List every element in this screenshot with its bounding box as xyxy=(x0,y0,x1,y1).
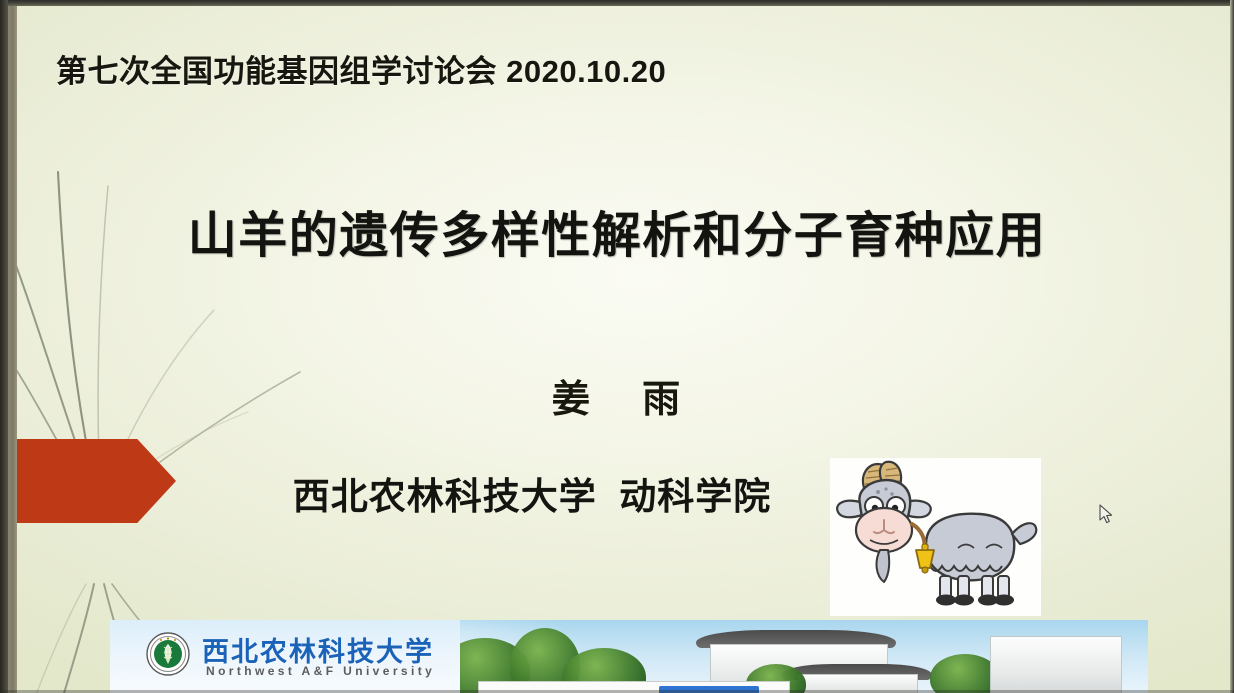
window-left-edge xyxy=(0,0,8,693)
conference-header-text: 第七次全国功能基因组学讨论会 2020.10.20 xyxy=(56,46,666,91)
goat-illustration-panel xyxy=(830,458,1041,616)
page-title: 山羊的遗传多样性解析和分子育种应用 xyxy=(0,196,1234,267)
banner-building-icon xyxy=(990,636,1122,693)
window-left-olive-bar xyxy=(8,6,17,693)
slide-background xyxy=(0,0,1234,693)
banner-university-name-en: Northwest A&F University xyxy=(206,664,435,678)
speaker-affiliation: 西北农林科技大学 动科学院 xyxy=(0,466,1234,520)
presentation-screen: 第七次全国功能基因组学讨论会 2020.10.20 山羊的遗传多样性解析和分子育… xyxy=(0,0,1234,693)
cartoon-goat-icon xyxy=(830,458,1041,616)
window-top-edge xyxy=(0,0,1234,6)
speaker-name: 姜 雨 xyxy=(0,368,1234,423)
window-right-edge xyxy=(1230,0,1234,693)
university-crest-icon xyxy=(146,632,190,676)
